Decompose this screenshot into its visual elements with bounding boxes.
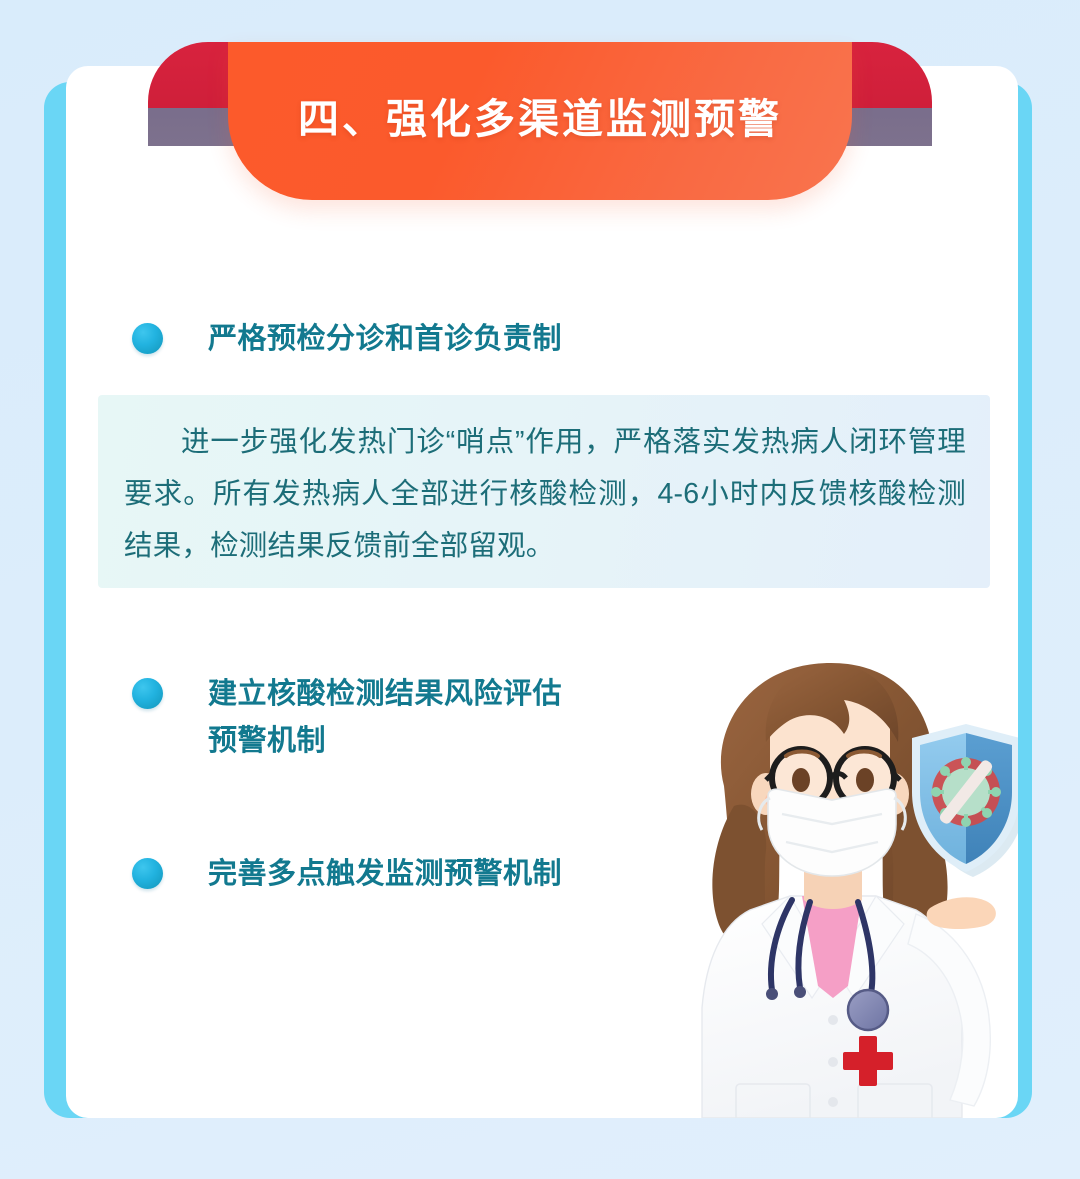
bullet-dot-icon: [132, 678, 163, 709]
paragraph-text: 进一步强化发热门诊“哨点”作用，严格落实发热病人闭环管理要求。所有发热病人全部进…: [124, 417, 966, 573]
content-area: 严格预检分诊和首诊负责制 进一步强化发热门诊“哨点”作用，严格落实发热病人闭环管…: [66, 66, 1018, 1118]
bullet-dot-icon: [132, 323, 163, 354]
bullet-label-3: 完善多点触发监测预警机制: [208, 851, 562, 898]
stethoscope-chestpiece: [848, 990, 888, 1030]
page-root: 四、强化多渠道监测预警 严格预检分诊和首诊负责制 进一步强化发热门诊“哨点”作用…: [0, 0, 1080, 1179]
bullet-label-2: 建立核酸检测结果风险评估 预警机制: [208, 671, 562, 765]
paragraph-box: 进一步强化发热门诊“哨点”作用，严格落实发热病人闭环管理要求。所有发热病人全部进…: [98, 395, 990, 588]
bullet-item-2: 建立核酸检测结果风险评估 预警机制: [132, 671, 562, 765]
bullet-item-1: 严格预检分诊和首诊负责制: [132, 316, 562, 363]
bullet-label-1: 严格预检分诊和首诊负责制: [208, 316, 562, 363]
doctor-illustration: [662, 638, 1018, 1118]
bullet-dot-icon: [132, 858, 163, 889]
bullet-item-3: 完善多点触发监测预警机制: [132, 851, 562, 898]
